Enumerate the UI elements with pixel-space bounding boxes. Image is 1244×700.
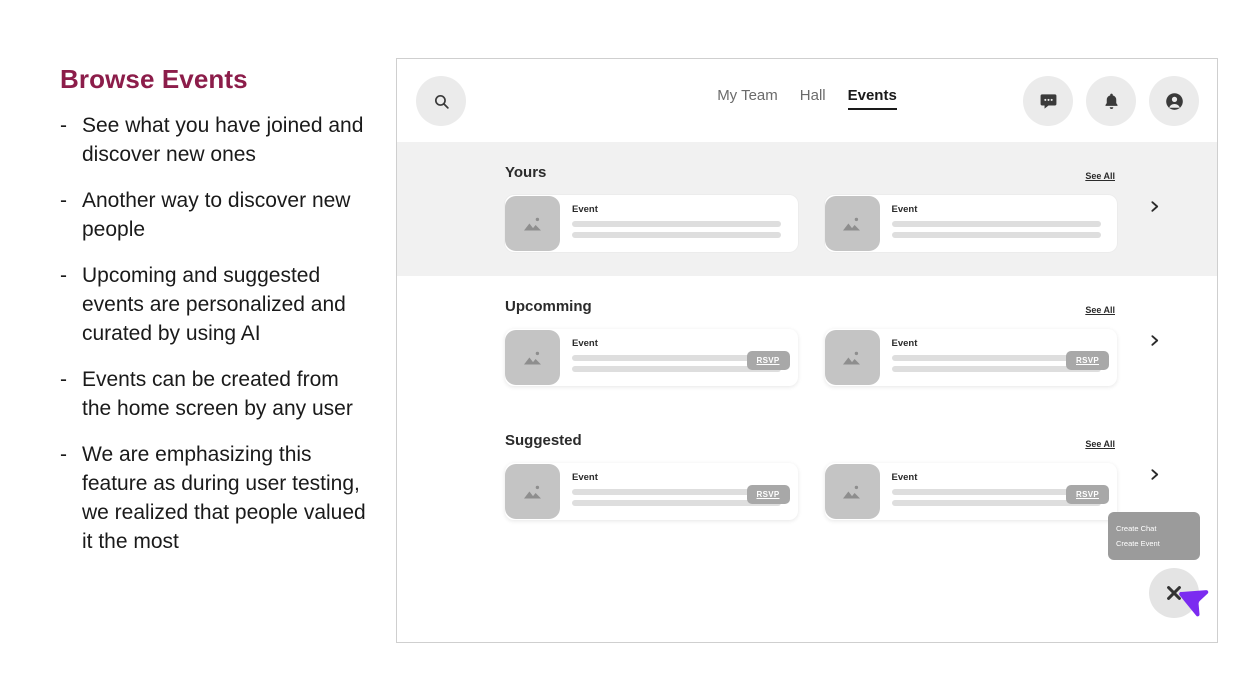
section-title: Upcomming	[505, 298, 592, 315]
section-header: Yours See All	[505, 164, 1117, 181]
bullet-text: Events can be created from the home scre…	[82, 365, 370, 423]
bullet-marker: -	[60, 261, 82, 290]
bullet-text: We are emphasizing this feature as durin…	[82, 440, 370, 556]
card-row: Event RSVP	[505, 329, 1117, 386]
chevron-right-icon[interactable]	[1148, 332, 1161, 355]
event-card[interactable]: Event RSVP	[825, 329, 1118, 386]
create-menu-popup: Create Chat Create Event	[1108, 512, 1200, 560]
bullet-text: Upcoming and suggested events are person…	[82, 261, 370, 348]
section-title: Suggested	[505, 432, 582, 449]
slide-canvas: Browse Events - See what you have joined…	[0, 0, 1244, 700]
app-mockup-frame: My Team Hall Events	[396, 58, 1218, 643]
event-card[interactable]: Event RSVP	[825, 463, 1118, 520]
card-title: Event	[892, 472, 1108, 483]
image-placeholder-icon	[825, 464, 880, 519]
card-body: Event	[560, 198, 798, 249]
placeholder-bar	[892, 232, 1101, 238]
card-body: Event RSVP	[880, 466, 1118, 517]
bullet-marker: -	[60, 440, 82, 469]
menu-item-create-event[interactable]: Create Event	[1108, 536, 1200, 551]
event-card[interactable]: Event	[505, 195, 798, 252]
rsvp-button[interactable]: RSVP	[747, 351, 790, 370]
card-title: Event	[892, 204, 1108, 215]
nav-item-hall[interactable]: Hall	[800, 87, 826, 110]
card-body: Event	[880, 198, 1118, 249]
event-card[interactable]: Event RSVP	[505, 463, 798, 520]
placeholder-bar	[892, 221, 1101, 227]
placeholder-bar	[572, 221, 781, 227]
image-placeholder-icon	[505, 464, 560, 519]
bullet-text: Another way to discover new people	[82, 186, 370, 244]
see-all-link[interactable]: See All	[1085, 305, 1115, 315]
see-all-link[interactable]: See All	[1085, 171, 1115, 181]
card-title: Event	[572, 338, 788, 349]
bullet-list: - See what you have joined and discover …	[60, 111, 370, 556]
card-body: Event RSVP	[560, 332, 798, 383]
bullet-text: See what you have joined and discover ne…	[82, 111, 370, 169]
nav-item-my-team[interactable]: My Team	[717, 87, 778, 110]
image-placeholder-icon	[825, 330, 880, 385]
list-item: - Another way to discover new people	[60, 186, 370, 244]
bullet-marker: -	[60, 365, 82, 394]
list-item: - Upcoming and suggested events are pers…	[60, 261, 370, 348]
image-placeholder-icon	[825, 196, 880, 251]
nav-item-events[interactable]: Events	[848, 87, 897, 110]
chat-icon[interactable]	[1023, 76, 1073, 126]
app-header: My Team Hall Events	[397, 59, 1217, 142]
see-all-link[interactable]: See All	[1085, 439, 1115, 449]
section-upcomming: Upcomming See All Event	[397, 276, 1217, 410]
section-yours: Yours See All Event	[397, 142, 1217, 276]
event-card[interactable]: Event RSVP	[505, 329, 798, 386]
rsvp-button[interactable]: RSVP	[1066, 485, 1109, 504]
card-body: Event RSVP	[560, 466, 798, 517]
slide-copy: Browse Events - See what you have joined…	[60, 64, 370, 573]
section-header: Upcomming See All	[505, 298, 1117, 315]
image-placeholder-icon	[505, 196, 560, 251]
menu-item-create-chat[interactable]: Create Chat	[1108, 521, 1200, 536]
bullet-marker: -	[60, 186, 82, 215]
list-item: - We are emphasizing this feature as dur…	[60, 440, 370, 556]
card-body: Event RSVP	[880, 332, 1118, 383]
rsvp-button[interactable]: RSVP	[1066, 351, 1109, 370]
card-title: Event	[892, 338, 1108, 349]
placeholder-bar	[572, 232, 781, 238]
section-title: Yours	[505, 164, 546, 181]
rsvp-button[interactable]: RSVP	[747, 485, 790, 504]
image-placeholder-icon	[505, 330, 560, 385]
section-suggested: Suggested See All Event	[397, 410, 1217, 544]
card-row: Event Event	[505, 195, 1117, 252]
event-card[interactable]: Event	[825, 195, 1118, 252]
list-item: - Events can be created from the home sc…	[60, 365, 370, 423]
bell-icon[interactable]	[1086, 76, 1136, 126]
profile-icon[interactable]	[1149, 76, 1199, 126]
card-title: Event	[572, 472, 788, 483]
card-title: Event	[572, 204, 788, 215]
page-title: Browse Events	[60, 64, 370, 95]
chevron-right-icon[interactable]	[1148, 466, 1161, 489]
chevron-right-icon[interactable]	[1148, 198, 1161, 221]
list-item: - See what you have joined and discover …	[60, 111, 370, 169]
mouse-cursor	[1179, 585, 1213, 622]
section-header: Suggested See All	[505, 432, 1117, 449]
header-icon-group	[1023, 76, 1199, 126]
card-row: Event RSVP	[505, 463, 1117, 520]
bullet-marker: -	[60, 111, 82, 140]
